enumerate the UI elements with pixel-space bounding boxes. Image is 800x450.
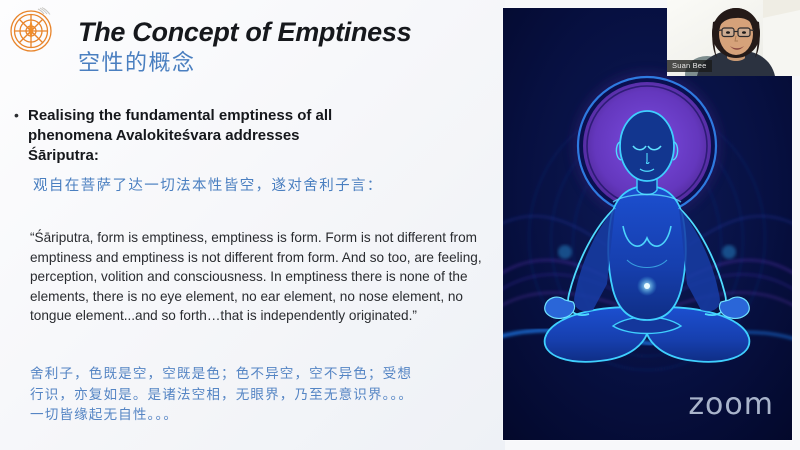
slide-title-block: The Concept of Emptiness 空性的概念 [78,18,498,76]
bullet-item: • Realising the fundamental emptiness of… [14,106,494,165]
page-title: The Concept of Emptiness [78,18,498,47]
quote-chinese-line: 舍利子，色既是空，空既是色；色不异空，空不异色；受想 [30,364,500,385]
presentation-slide: The Concept of Emptiness 空性的概念 • Realisi… [0,0,505,450]
zoom-screen-share-view: The Concept of Emptiness 空性的概念 • Realisi… [0,0,800,450]
participant-video-tile[interactable]: Suan Bee [667,0,800,76]
quote-chinese-line: 一切皆缘起无自性。。。 [30,405,500,426]
bullet-text-chinese: 观自在菩萨了达一切法本性皆空，遂对舍利子言： [33,174,383,195]
bullet-text: Realising the fundamental emptiness of a… [28,106,358,165]
dharma-wheel-logo-icon [8,6,56,54]
bullet-marker-icon: • [14,106,28,125]
quote-chinese: 舍利子，色既是空，空既是色；色不异空，空不异色；受想 行识，亦复如是。是诸法空相… [30,364,500,426]
quote-english: “Śāriputra, form is emptiness, emptiness… [30,228,492,326]
page-subtitle-chinese: 空性的概念 [78,51,498,76]
participant-name-label: Suan Bee [667,60,712,72]
quote-chinese-line: 行识，亦复如是。是诸法空相，无眼界，乃至无意识界。。。 [30,385,500,406]
